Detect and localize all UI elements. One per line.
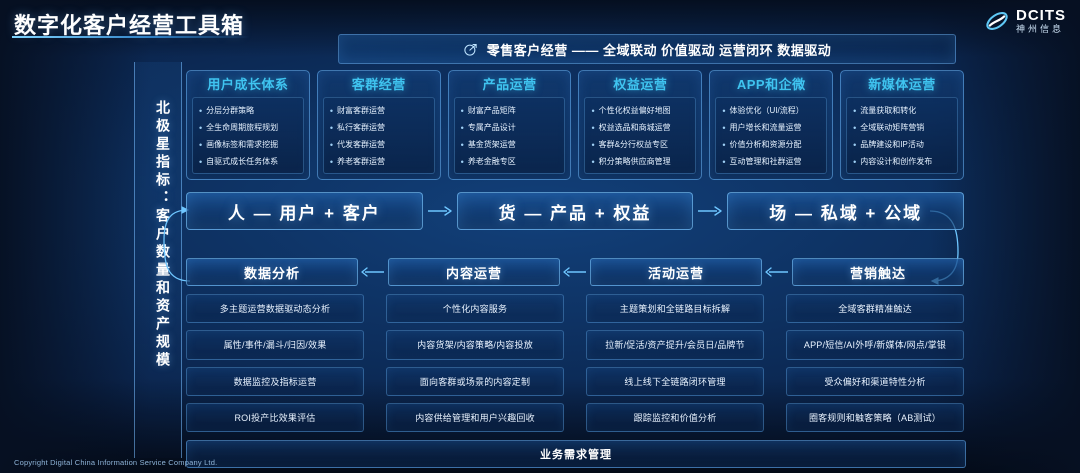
bullet-dot-icon: • xyxy=(330,141,333,150)
list-item-label: 养老金融专区 xyxy=(468,157,516,166)
target-arrow-icon xyxy=(463,42,478,57)
bullet-dot-icon: • xyxy=(330,158,333,167)
category-card-title: 用户成长体系 xyxy=(187,71,309,95)
bottom-bar[interactable]: 业务需求管理 xyxy=(186,440,966,468)
bullet-dot-icon: • xyxy=(461,107,464,116)
bullet-dot-icon: • xyxy=(591,158,594,167)
category-card[interactable]: 产品运营 •财富产品矩阵 •专属产品设计 •基金货架运营 •养老金融专区 xyxy=(448,70,572,180)
matrix-cell[interactable]: 属性/事件/漏斗/归因/效果 xyxy=(186,330,364,359)
matrix-cell[interactable]: 跟踪监控和价值分析 xyxy=(586,403,764,432)
list-item-label: 专属产品设计 xyxy=(468,123,516,132)
list-item: •用户增长和流量运营 xyxy=(718,123,824,133)
list-item: •私行客群运营 xyxy=(326,123,432,133)
matrix-cell[interactable]: 受众偏好和渠道特性分析 xyxy=(786,367,964,396)
list-item: •价值分析和资源分配 xyxy=(718,140,824,150)
arrow-right-icon xyxy=(697,205,723,217)
list-item: •专属产品设计 xyxy=(457,123,563,133)
category-card[interactable]: APP和企微 •体验优化（UI/流程） •用户增长和流量运营 •价值分析和资源分… xyxy=(709,70,833,180)
bullet-dot-icon: • xyxy=(199,107,202,116)
bullet-dot-icon: • xyxy=(461,141,464,150)
list-item: •体验优化（UI/流程） xyxy=(718,106,824,116)
matrix-cell[interactable]: 内容供给管理和用户兴趣回收 xyxy=(386,403,564,432)
copyright-text: Copyright Digital China Information Serv… xyxy=(14,458,217,467)
bullet-dot-icon: • xyxy=(722,141,725,150)
list-item: •代发客群运营 xyxy=(326,140,432,150)
list-item-label: 画像标签和需求挖掘 xyxy=(206,140,278,149)
flow-arrow xyxy=(693,205,727,217)
list-item-label: 体验优化（UI/流程） xyxy=(729,106,803,115)
category-card-title: 新媒体运营 xyxy=(841,71,963,95)
section-arrow xyxy=(560,266,590,278)
list-item-label: 内容设计和创作发布 xyxy=(860,157,932,166)
bullet-dot-icon: • xyxy=(591,124,594,133)
bullet-dot-icon: • xyxy=(853,158,856,167)
list-item-label: 价值分析和资源分配 xyxy=(729,140,801,149)
category-card-body: •分层分群策略 •全生命周期旅程规划 •画像标签和需求挖掘 •自驱式成长任务体系 xyxy=(192,97,304,174)
arrow-left-icon xyxy=(765,266,789,278)
bullet-dot-icon: • xyxy=(591,141,594,150)
list-item-label: 个性化权益偏好地图 xyxy=(599,106,671,115)
flow-item-goods[interactable]: 货 — 产品 + 权益 xyxy=(457,192,694,230)
category-card[interactable]: 权益运营 •个性化权益偏好地图 •权益选品和商城运营 •客群&分行权益专区 •积… xyxy=(578,70,702,180)
category-card-body: •个性化权益偏好地图 •权益选品和商城运营 •客群&分行权益专区 •积分策略供应… xyxy=(584,97,696,174)
brand-logo: DCITS 神州信息 xyxy=(984,8,1066,34)
list-item-label: 私行客群运营 xyxy=(337,123,385,132)
category-card-body: •流量获取和转化 •全域联动矩阵营销 •品牌建设和IP活动 •内容设计和创作发布 xyxy=(846,97,958,174)
category-card-row: 用户成长体系 •分层分群策略 •全生命周期旅程规划 •画像标签和需求挖掘 •自驱… xyxy=(186,70,964,180)
list-item: •全生命周期旅程规划 xyxy=(195,123,301,133)
bullet-dot-icon: • xyxy=(199,141,202,150)
matrix-cell[interactable]: APP/短信/AI外呼/新媒体/网点/掌银 xyxy=(786,330,964,359)
section-header-row: 数据分析 内容运营 活动运营 营销触达 xyxy=(186,259,964,285)
list-item-label: 养老客群运营 xyxy=(337,157,385,166)
list-item-label: 权益选品和商城运营 xyxy=(599,123,671,132)
matrix-column: 全域客群精准触达 APP/短信/AI外呼/新媒体/网点/掌银 受众偏好和渠道特性… xyxy=(786,294,964,432)
list-item: •养老客群运营 xyxy=(326,157,432,167)
logo-text-cn: 神州信息 xyxy=(1016,25,1066,34)
category-card-title: 客群经营 xyxy=(318,71,440,95)
category-card[interactable]: 客群经营 •财富客群运营 •私行客群运营 •代发客群运营 •养老客群运营 xyxy=(317,70,441,180)
slide-canvas: 数字化客户经营工具箱 DCITS 神州信息 零售客户经营 —— 全域联动 价值驱… xyxy=(0,0,1080,473)
bullet-dot-icon: • xyxy=(461,124,464,133)
category-card[interactable]: 新媒体运营 •流量获取和转化 •全域联动矩阵营销 •品牌建设和IP活动 •内容设… xyxy=(840,70,964,180)
matrix-cell[interactable]: 线上线下全链路闭环管理 xyxy=(586,367,764,396)
banner-text: 零售客户经营 —— 全域联动 价值驱动 运营闭环 数据驱动 xyxy=(487,40,832,59)
section-header-data-analysis[interactable]: 数据分析 xyxy=(186,258,358,286)
category-card-title: APP和企微 xyxy=(710,71,832,95)
list-item: •财富客群运营 xyxy=(326,106,432,116)
flow-row: 人 — 用户 + 客户 货 — 产品 + 权益 场 — 私域 + 公域 xyxy=(186,193,964,229)
list-item: •积分策略供应商管理 xyxy=(587,157,693,167)
bullet-dot-icon: • xyxy=(591,107,594,116)
bullet-dot-icon: • xyxy=(722,158,725,167)
matrix-column: 主题策划和全链路目标拆解 拉新/促活/资产提升/会员日/品牌节 线上线下全链路闭… xyxy=(586,294,764,432)
list-item: •画像标签和需求挖掘 xyxy=(195,140,301,150)
list-item: •内容设计和创作发布 xyxy=(849,157,955,167)
list-item: •分层分群策略 xyxy=(195,106,301,116)
list-item: •客群&分行权益专区 xyxy=(587,140,693,150)
flow-item-people[interactable]: 人 — 用户 + 客户 xyxy=(186,192,423,230)
list-item-label: 品牌建设和IP活动 xyxy=(860,140,924,149)
bullet-dot-icon: • xyxy=(853,107,856,116)
north-star-axis-label: 北极星指标：客户数量和资产规模 xyxy=(140,100,170,370)
list-item-label: 积分策略供应商管理 xyxy=(599,157,671,166)
list-item-label: 财富客群运营 xyxy=(337,106,385,115)
matrix-cell[interactable]: 面向客群或场景的内容定制 xyxy=(386,367,564,396)
arrow-left-icon xyxy=(361,266,385,278)
list-item-label: 互动管理和社群运营 xyxy=(729,157,801,166)
category-card-body: •体验优化（UI/流程） •用户增长和流量运营 •价值分析和资源分配 •互动管理… xyxy=(715,97,827,174)
flow-item-place[interactable]: 场 — 私域 + 公域 xyxy=(727,192,964,230)
matrix-column: 多主题运营数据驱动态分析 属性/事件/漏斗/归因/效果 数据监控及指标运营 RO… xyxy=(186,294,364,432)
logo-text-en: DCITS xyxy=(1016,8,1066,23)
matrix-cell[interactable]: 内容货架/内容策略/内容投放 xyxy=(386,330,564,359)
list-item-label: 全域联动矩阵营销 xyxy=(860,123,924,132)
section-header-marketing-reach[interactable]: 营销触达 xyxy=(792,258,964,286)
list-item: •养老金融专区 xyxy=(457,157,563,167)
category-card[interactable]: 用户成长体系 •分层分群策略 •全生命周期旅程规划 •画像标签和需求挖掘 •自驱… xyxy=(186,70,310,180)
list-item-label: 代发客群运营 xyxy=(337,140,385,149)
bullet-dot-icon: • xyxy=(199,158,202,167)
list-item: •品牌建设和IP活动 xyxy=(849,140,955,150)
section-arrow xyxy=(762,266,792,278)
section-header-campaign-ops[interactable]: 活动运营 xyxy=(590,258,762,286)
bullet-dot-icon: • xyxy=(722,124,725,133)
arrow-right-icon xyxy=(427,205,453,217)
matrix-column: 个性化内容服务 内容货架/内容策略/内容投放 面向客群或场景的内容定制 内容供给… xyxy=(386,294,564,432)
matrix-cell[interactable]: 主题策划和全链路目标拆解 xyxy=(586,294,764,323)
list-item-label: 财富产品矩阵 xyxy=(468,106,516,115)
banner-bar: 零售客户经营 —— 全域联动 价值驱动 运营闭环 数据驱动 xyxy=(338,34,956,64)
matrix-cell[interactable]: 全域客群精准触达 xyxy=(786,294,964,323)
list-item-label: 流量获取和转化 xyxy=(860,106,916,115)
list-item: •权益选品和商城运营 xyxy=(587,123,693,133)
matrix-cell[interactable]: 数据监控及指标运营 xyxy=(186,367,364,396)
list-item: •财富产品矩阵 xyxy=(457,106,563,116)
list-item-label: 自驱式成长任务体系 xyxy=(206,157,278,166)
swirl-logo-icon xyxy=(984,8,1010,34)
bullet-dot-icon: • xyxy=(199,124,202,133)
list-item: •自驱式成长任务体系 xyxy=(195,157,301,167)
list-item-label: 分层分群策略 xyxy=(206,106,254,115)
bullet-dot-icon: • xyxy=(722,107,725,116)
list-item: •流量获取和转化 xyxy=(849,106,955,116)
category-card-title: 产品运营 xyxy=(449,71,571,95)
matrix-cell[interactable]: 个性化内容服务 xyxy=(386,294,564,323)
list-item-label: 全生命周期旅程规划 xyxy=(206,123,278,132)
list-item: •互动管理和社群运营 xyxy=(718,157,824,167)
category-card-body: •财富客群运营 •私行客群运营 •代发客群运营 •养老客群运营 xyxy=(323,97,435,174)
section-header-content-ops[interactable]: 内容运营 xyxy=(388,258,560,286)
flow-arrow xyxy=(423,205,457,217)
bullet-dot-icon: • xyxy=(330,124,333,133)
matrix-cell[interactable]: 圈客规则和触客策略（AB测试） xyxy=(786,403,964,432)
matrix-cell[interactable]: ROI投产比效果评估 xyxy=(186,403,364,432)
category-card-title: 权益运营 xyxy=(579,71,701,95)
matrix-cell[interactable]: 拉新/促活/资产提升/会员日/品牌节 xyxy=(586,330,764,359)
capability-matrix: 多主题运营数据驱动态分析 属性/事件/漏斗/归因/效果 数据监控及指标运营 RO… xyxy=(186,294,964,432)
bullet-dot-icon: • xyxy=(853,141,856,150)
list-item-label: 用户增长和流量运营 xyxy=(729,123,801,132)
bullet-dot-icon: • xyxy=(330,107,333,116)
section-arrow xyxy=(358,266,388,278)
category-card-body: •财富产品矩阵 •专属产品设计 •基金货架运营 •养老金融专区 xyxy=(454,97,566,174)
list-item: •个性化权益偏好地图 xyxy=(587,106,693,116)
matrix-cell[interactable]: 多主题运营数据驱动态分析 xyxy=(186,294,364,323)
bullet-dot-icon: • xyxy=(853,124,856,133)
list-item: •基金货架运营 xyxy=(457,140,563,150)
title-underline xyxy=(12,36,250,38)
list-item-label: 基金货架运营 xyxy=(468,140,516,149)
arrow-left-icon xyxy=(563,266,587,278)
list-item: •全域联动矩阵营销 xyxy=(849,123,955,133)
list-item-label: 客群&分行权益专区 xyxy=(599,140,668,149)
bullet-dot-icon: • xyxy=(461,158,464,167)
